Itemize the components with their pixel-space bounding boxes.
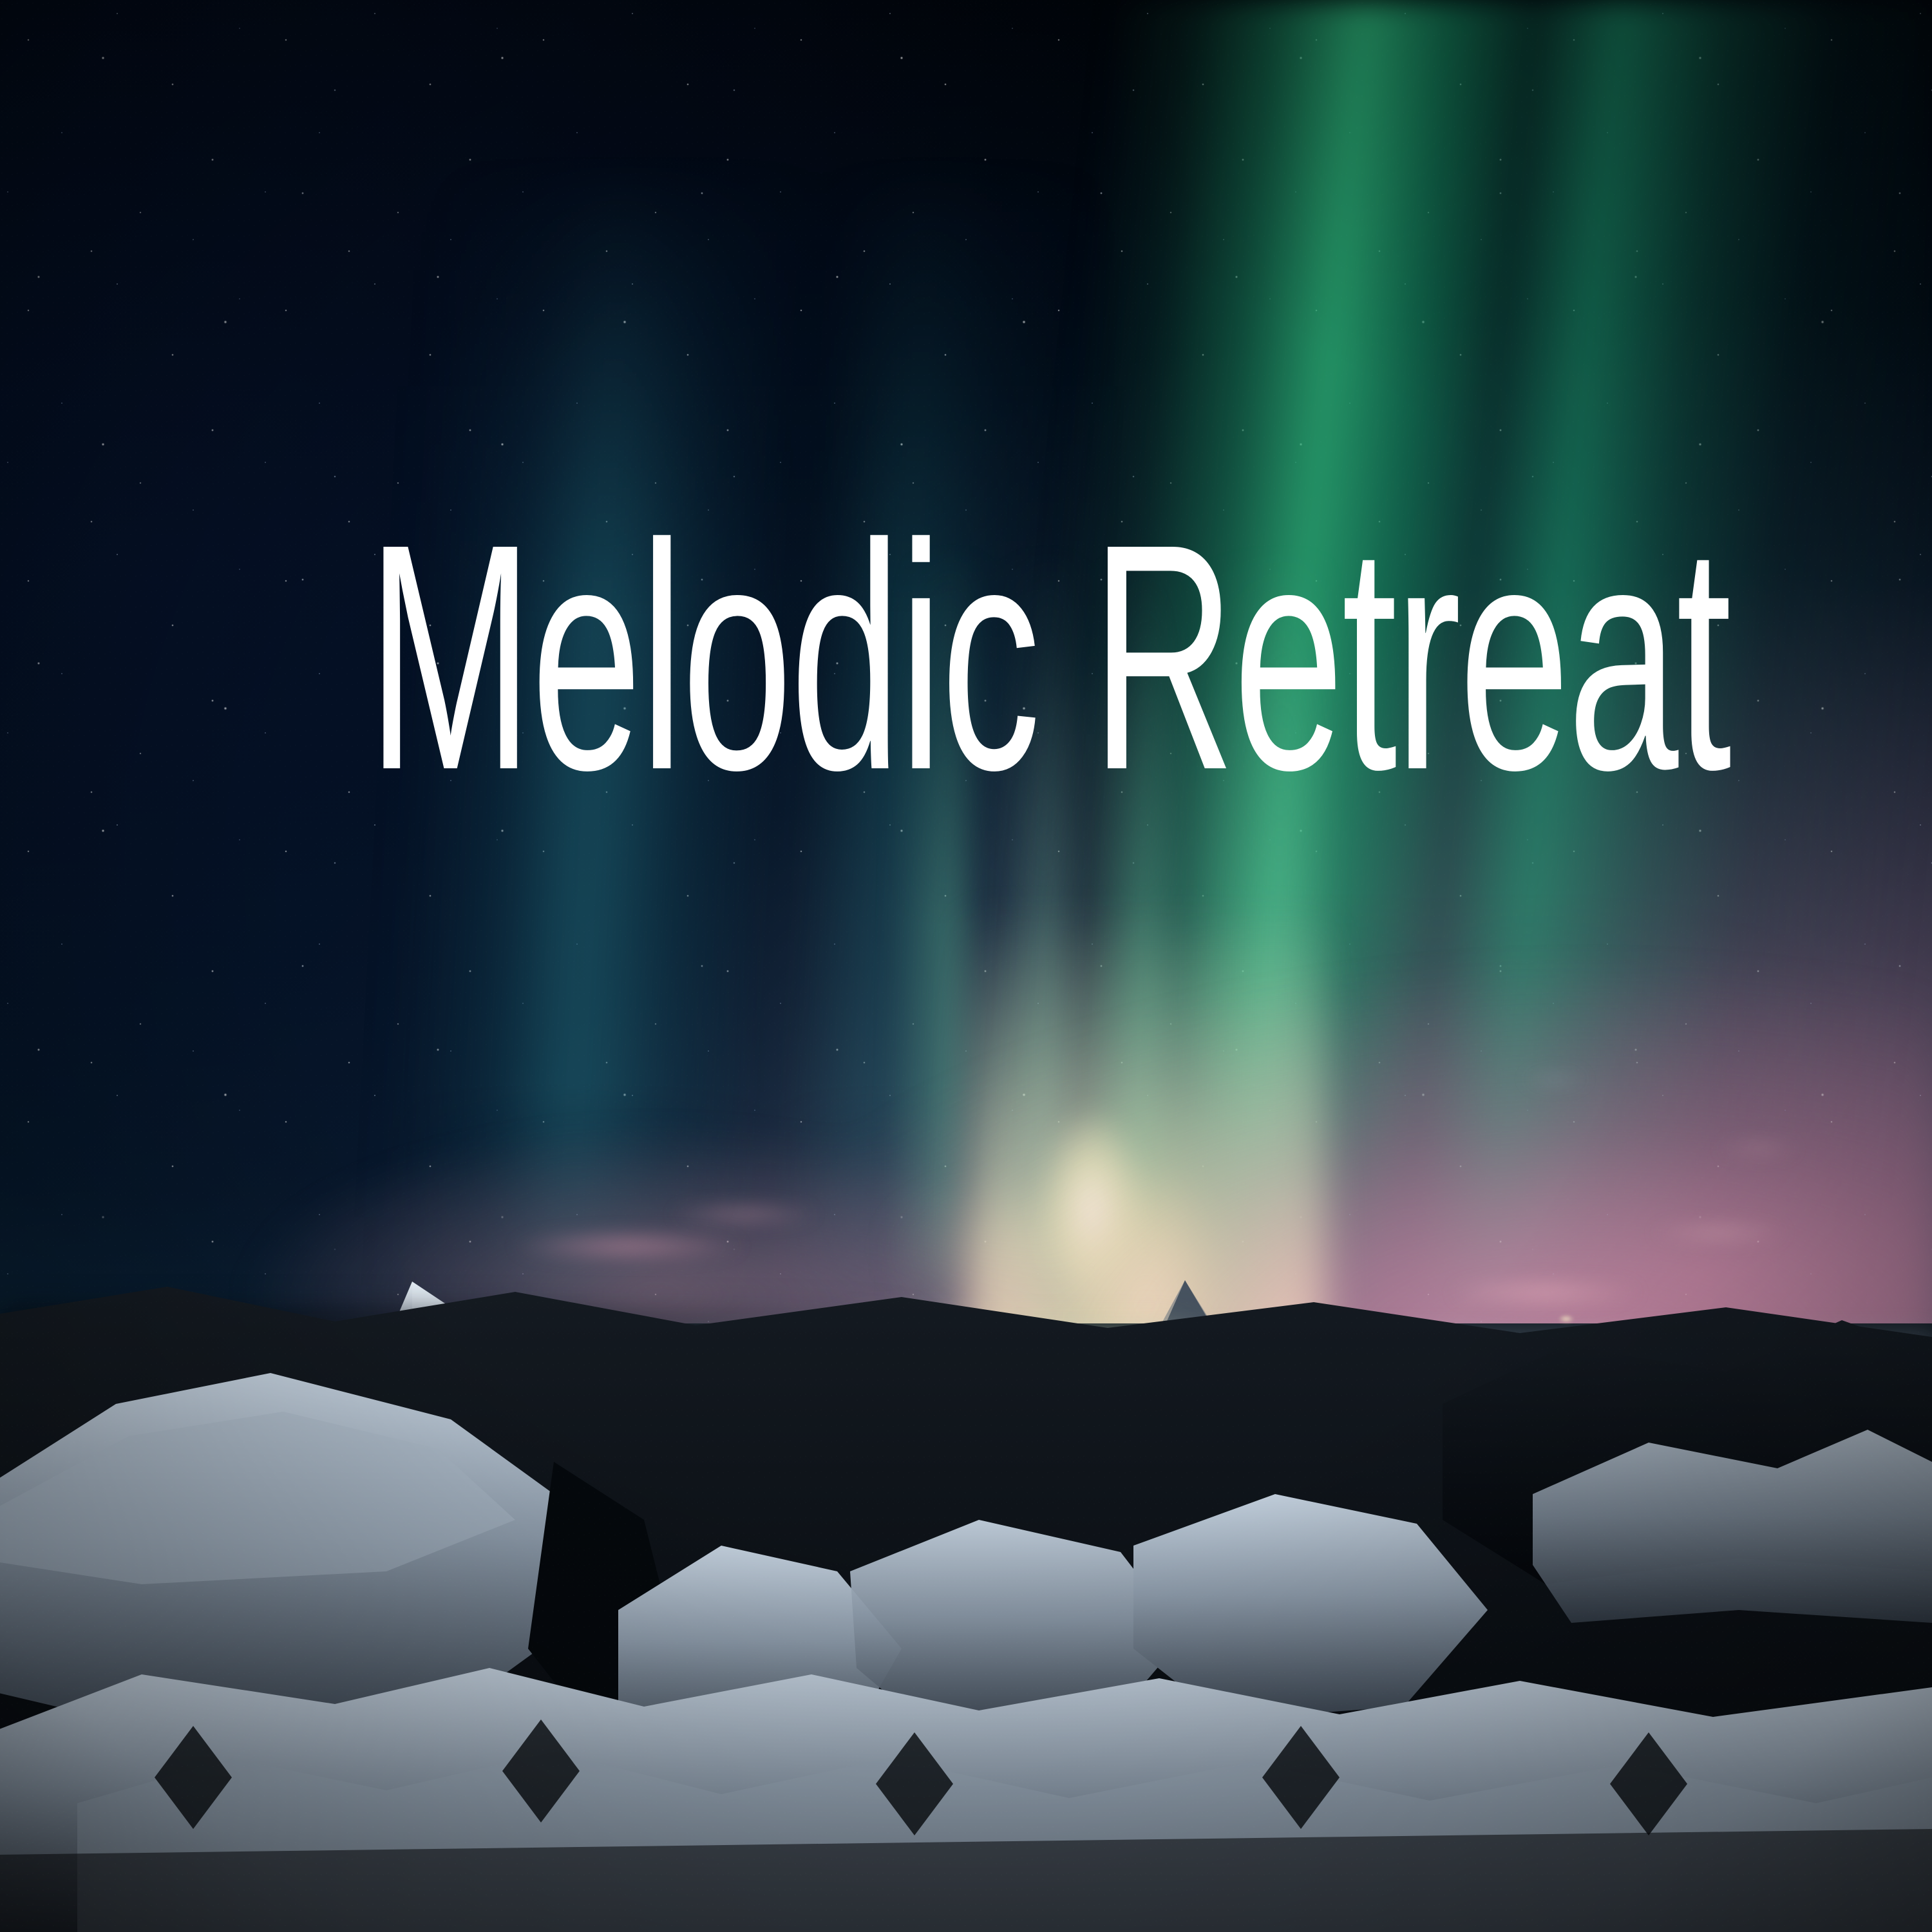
album-cover: Melodic Retreat [0,0,1932,1932]
foreground-rocks [0,1159,1932,1932]
page-title: Melodic Retreat [367,496,1565,818]
